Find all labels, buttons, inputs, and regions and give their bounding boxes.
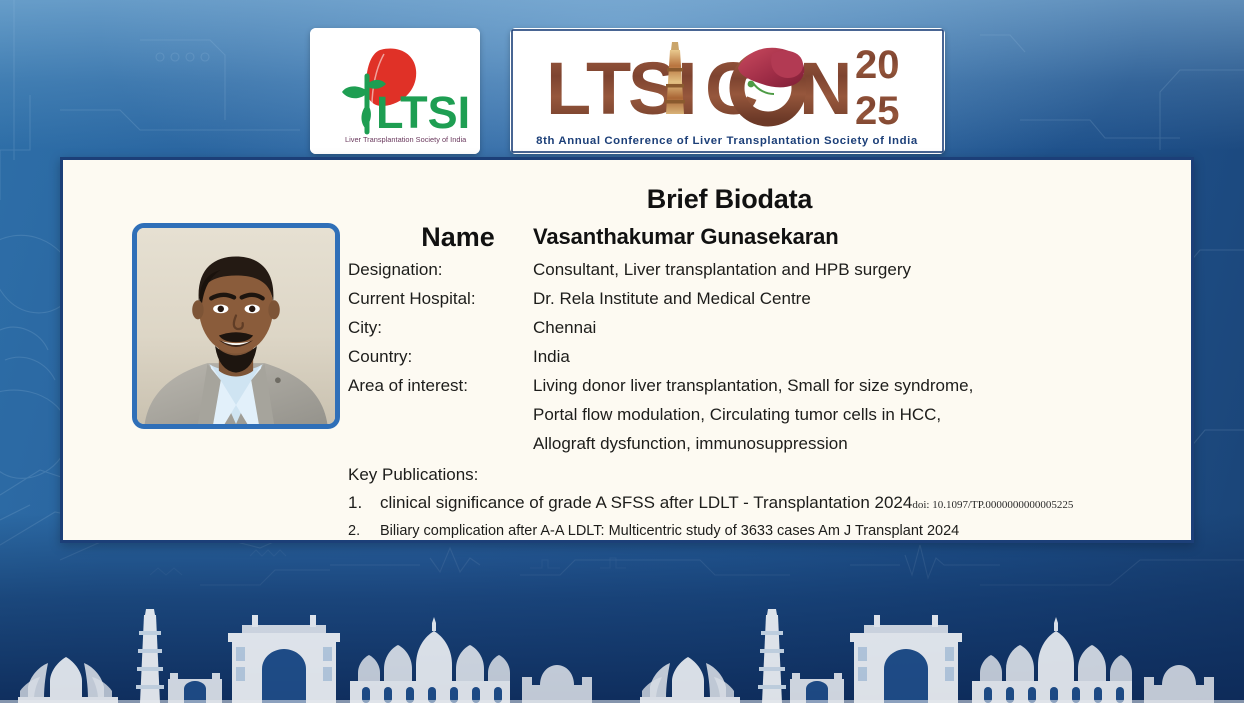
row-value: India <box>533 347 570 367</box>
logo-row: LTSI Liver Transplantation Society of In… <box>0 14 1244 140</box>
list-item-text: clinical significance of grade A SFSS af… <box>380 493 912 512</box>
table-row: City: Chennai <box>348 318 973 347</box>
list-item-number: 2. <box>348 523 380 539</box>
name-value: Vasanthakumar Gunasekaran <box>533 224 839 250</box>
svg-text:LTSI: LTSI <box>376 87 470 138</box>
ltsi-society-logo: LTSI Liver Transplantation Society of In… <box>310 28 480 154</box>
page-title: Brief Biodata <box>63 184 1191 215</box>
row-label: City: <box>348 318 533 338</box>
list-item: 1.clinical significance of grade A SFSS … <box>348 493 1073 513</box>
name-label: Name <box>378 222 538 253</box>
svg-text:20: 20 <box>855 43 900 87</box>
publication-doi: doi: 10.1097/TP.0000000000005225 <box>912 499 1073 511</box>
svg-text:L: L <box>546 47 591 130</box>
poster-canvas: LTSI Liver Transplantation Society of In… <box>0 0 1244 703</box>
table-row: Current Hospital: Dr. Rela Institute and… <box>348 289 973 318</box>
row-value: Portal flow modulation, Circulating tumo… <box>533 405 941 425</box>
row-value: Consultant, Liver transplantation and HP… <box>533 260 911 280</box>
row-label: Area of interest: <box>348 376 533 396</box>
table-row: Designation: Consultant, Liver transplan… <box>348 260 973 289</box>
footer-contact-bar: ltsicon2025@gmail.com ltsicon2025.com <box>0 543 1244 703</box>
svg-text:T: T <box>586 47 631 130</box>
row-value: Living donor liver transplantation, Smal… <box>533 376 973 396</box>
list-item: 2.Biliary complication after A-A LDLT: M… <box>348 523 959 539</box>
svg-text:Liver Transplantation Society: Liver Transplantation Society of India <box>345 135 467 144</box>
row-label: Country: <box>348 347 533 367</box>
avatar <box>132 223 340 429</box>
row-value: Allograft dysfunction, immunosuppression <box>533 434 848 454</box>
delhi-monuments-skyline <box>0 603 1244 703</box>
svg-text:8th Annual Conference of Liver: 8th Annual Conference of Liver Transplan… <box>536 135 918 147</box>
row-label: Designation: <box>348 260 533 280</box>
portrait-photo <box>137 228 335 424</box>
svg-text:N: N <box>799 47 852 130</box>
row-value: Chennai <box>533 318 596 338</box>
leaf-liver-logo-icon: LTSI Liver Transplantation Society of In… <box>310 28 480 154</box>
list-item-text: Biliary complication after A-A LDLT: Mul… <box>380 523 959 539</box>
svg-text:25: 25 <box>855 89 900 133</box>
biodata-rows: Designation: Consultant, Liver transplan… <box>348 260 973 463</box>
table-row: Country: India <box>348 347 973 376</box>
ltsicon-conference-logo: L T S I C N <box>510 28 945 154</box>
row-value: Dr. Rela Institute and Medical Centre <box>533 289 811 309</box>
table-row: Area of interest: Living donor liver tra… <box>348 376 973 405</box>
ltsicon-wordmark-icon: L T S I C N <box>510 28 945 154</box>
publications-heading: Key Publications: <box>348 465 478 485</box>
biodata-card: Brief Biodata <box>60 157 1194 543</box>
row-label: Current Hospital: <box>348 289 533 309</box>
list-item-number: 1. <box>348 493 380 513</box>
table-row: Allograft dysfunction, immunosuppression <box>348 434 973 463</box>
table-row: Portal flow modulation, Circulating tumo… <box>348 405 973 434</box>
